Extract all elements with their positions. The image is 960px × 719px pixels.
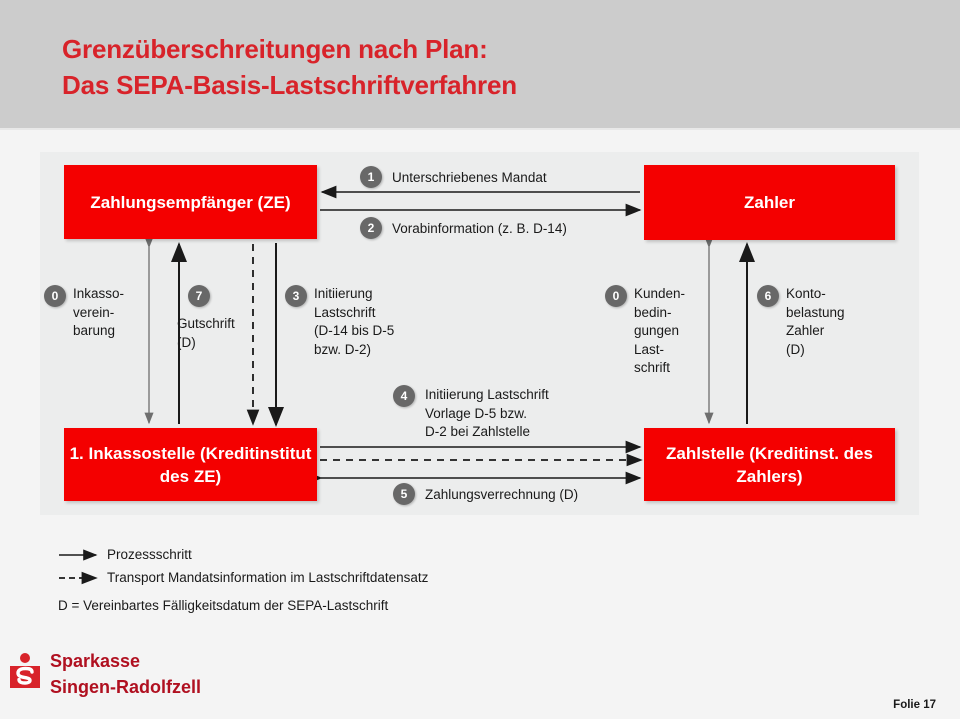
slide-header-band: Grenzüberschreitungen nach Plan: Das SEP… <box>0 0 960 130</box>
title-line-1: Grenzüberschreitungen nach Plan: <box>62 31 517 67</box>
label-step-1: Unterschriebenes Mandat <box>392 169 547 188</box>
legend-row-prozessschritt: Prozessschritt <box>58 543 678 566</box>
box-inkassostelle[interactable]: 1. Inkassostelle (Kreditinstitut des ZE) <box>64 428 317 501</box>
label-step-3: Initiierung Lastschrift (D-14 bis D-5 bz… <box>314 285 394 359</box>
sparkasse-logo-block: Sparkasse Singen-Radolfzell <box>8 648 201 700</box>
label-step-5: Zahlungsverrechnung (D) <box>425 486 578 505</box>
badge-step-2: 2 <box>360 217 382 239</box>
legend-label-mandatsinformation: Transport Mandatsinformation im Lastschr… <box>107 570 428 585</box>
box-zahler[interactable]: Zahler <box>644 165 895 240</box>
badge-step-7: 7 <box>188 285 210 307</box>
box-zahlungsempfaenger[interactable]: Zahlungsempfänger (ZE) <box>64 165 317 239</box>
sparkasse-s-logo-icon <box>8 652 44 692</box>
badge-step-0-right: 0 <box>605 285 627 307</box>
badge-step-4: 4 <box>393 385 415 407</box>
legend: Prozessschritt Transport Mandatsinformat… <box>58 543 678 589</box>
badge-step-0-left: 0 <box>44 285 66 307</box>
title-line-2: Das SEPA-Basis-Lastschriftverfahren <box>62 67 517 103</box>
legend-label-prozessschritt: Prozessschritt <box>107 547 192 562</box>
slide-number: Folie 17 <box>893 699 936 711</box>
dashed-arrow-icon <box>58 571 104 585</box>
label-step-0-right: Kunden- bedin- gungen Last- schrift <box>634 285 685 378</box>
badge-step-1: 1 <box>360 166 382 188</box>
diagram-panel: Zahlungsempfänger (ZE) Zahler 1. Inkasso… <box>40 152 919 515</box>
badge-step-3: 3 <box>285 285 307 307</box>
label-step-6: Konto- belastung Zahler (D) <box>786 285 845 359</box>
badge-step-6: 6 <box>757 285 779 307</box>
page-title: Grenzüberschreitungen nach Plan: Das SEP… <box>62 31 517 103</box>
slide-root: Grenzüberschreitungen nach Plan: Das SEP… <box>0 0 960 719</box>
badge-step-5: 5 <box>393 483 415 505</box>
legend-note-faelligkeitsdatum: D = Vereinbartes Fälligkeitsdatum der SE… <box>58 598 388 613</box>
label-step-0-left: Inkasso- verein- barung <box>73 285 124 341</box>
legend-row-mandatsinformation: Transport Mandatsinformation im Lastschr… <box>58 566 678 589</box>
label-step-2: Vorabinformation (z. B. D-14) <box>392 220 567 239</box>
label-step-7: Gutschrift (D) <box>177 315 235 352</box>
box-zahlstelle[interactable]: Zahlstelle (Kreditinst. des Zahlers) <box>644 428 895 501</box>
label-step-4: Initiierung Lastschrift Vorlage D-5 bzw.… <box>425 386 549 442</box>
sparkasse-logo-text: Sparkasse Singen-Radolfzell <box>50 648 201 700</box>
solid-arrow-icon <box>58 548 104 562</box>
